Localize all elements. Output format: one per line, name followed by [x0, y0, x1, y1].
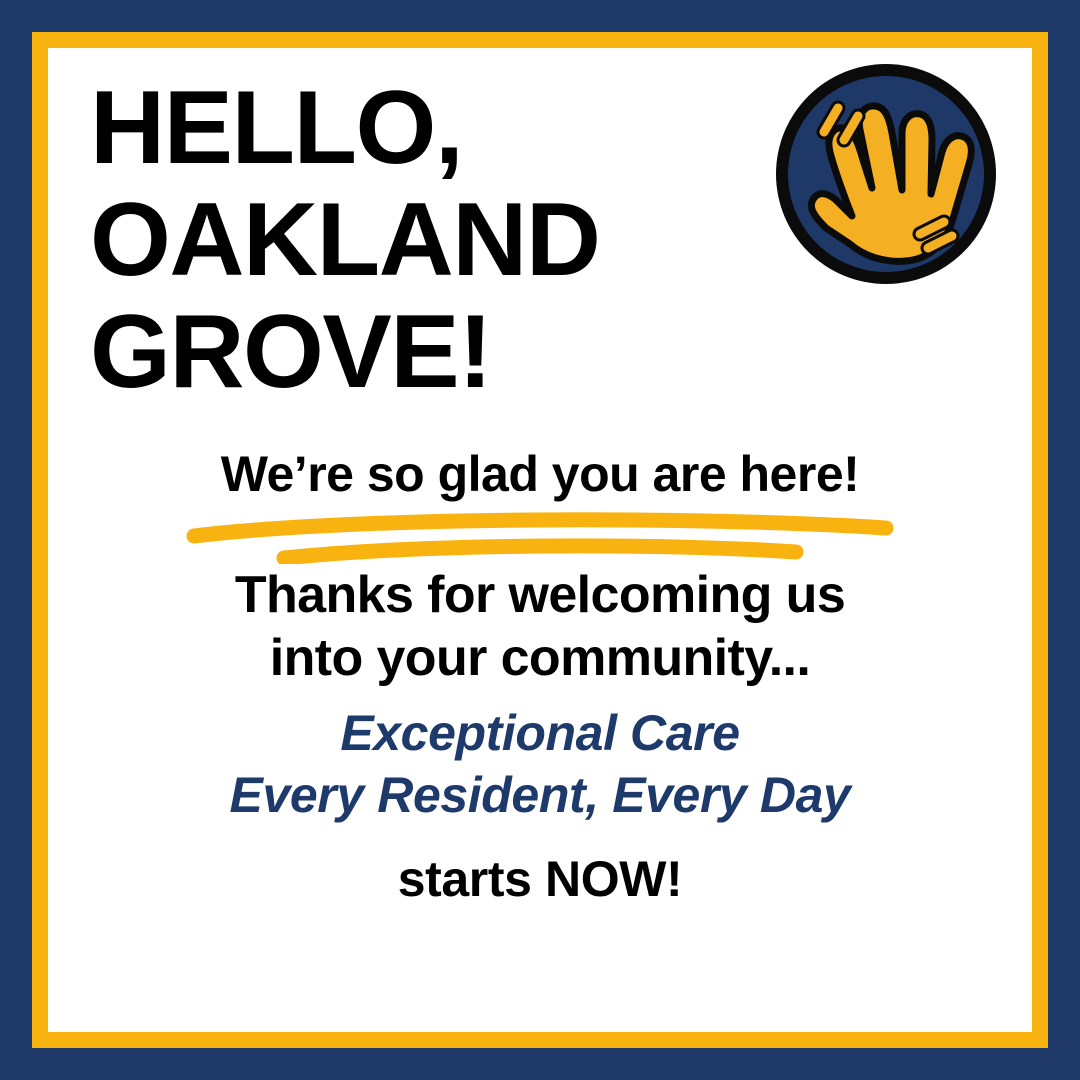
underline-decoration — [48, 506, 1032, 564]
body-text-block: We’re so glad you are here! Thanks for w… — [48, 444, 1032, 908]
poster-canvas: HELLO, OAKLAND GROVE! — [0, 0, 1080, 1080]
starts-now-line: starts NOW! — [48, 850, 1032, 908]
waving-hand-badge — [768, 56, 1004, 292]
waving-hand-icon — [768, 56, 1004, 292]
welcome-line: We’re so glad you are here! — [48, 444, 1032, 504]
yellow-double-underline-icon — [180, 506, 900, 564]
thanks-line: Thanks for welcoming us into your commun… — [48, 564, 1032, 690]
page-title: HELLO, OAKLAND GROVE! — [90, 72, 750, 408]
white-content-card: HELLO, OAKLAND GROVE! — [48, 48, 1032, 1032]
tagline: Exceptional Care Every Resident, Every D… — [48, 702, 1032, 826]
